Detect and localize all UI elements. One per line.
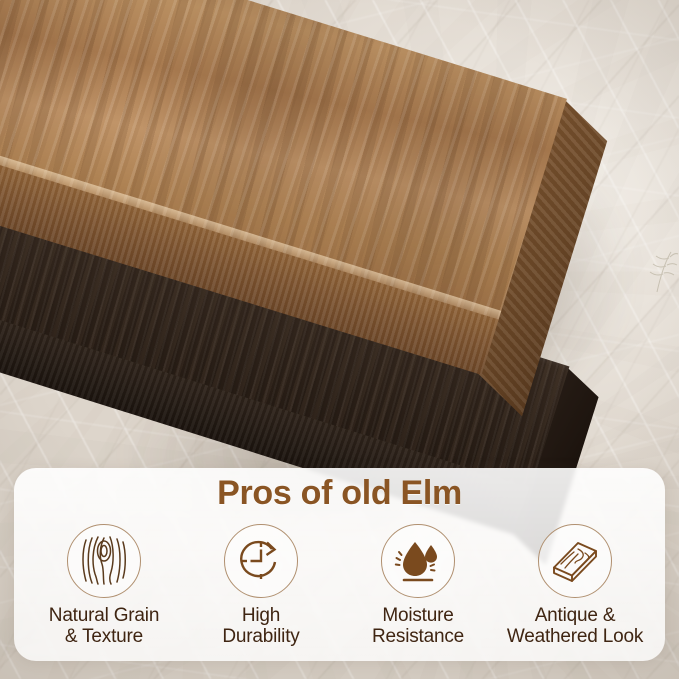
feature-antique-weathered: Antique & Weathered Look xyxy=(497,524,653,648)
wood-grain-icon xyxy=(67,524,141,598)
card-title: Pros of old Elm xyxy=(14,474,665,513)
pros-info-card: Pros of old Elm xyxy=(14,468,665,661)
dried-sprig-icon xyxy=(645,248,679,296)
water-droplet-icon xyxy=(381,524,455,598)
feature-label: Natural Grain & Texture xyxy=(49,605,159,648)
feature-natural-grain: Natural Grain & Texture xyxy=(26,524,182,648)
feature-label: Moisture Resistance xyxy=(372,605,464,648)
clock-refresh-icon xyxy=(224,524,298,598)
feature-high-durability: High Durability xyxy=(183,524,339,648)
wood-plank-icon xyxy=(538,524,612,598)
feature-moisture-resistance: Moisture Resistance xyxy=(340,524,496,648)
feature-list: Natural Grain & Texture xyxy=(14,524,665,648)
feature-label: High Durability xyxy=(222,605,299,648)
product-image-stage: Pros of old Elm xyxy=(0,0,679,679)
feature-label: Antique & Weathered Look xyxy=(507,605,643,648)
